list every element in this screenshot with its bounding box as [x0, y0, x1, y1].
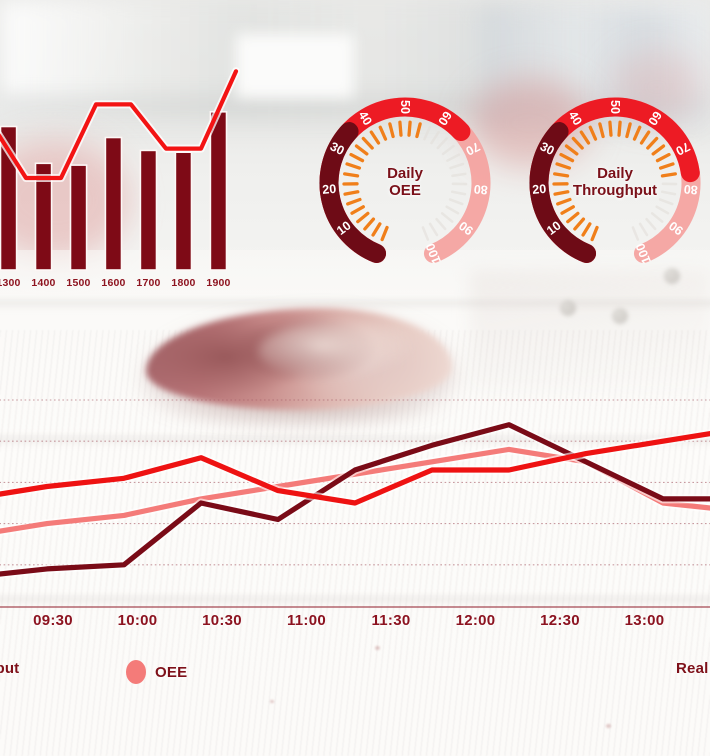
gauge-tick-mark	[567, 146, 577, 154]
gauge-daily-throughput-svg: 102030405060708090100	[520, 88, 710, 278]
gauge-tick-mark	[347, 164, 359, 168]
gauge-tick-mark	[557, 164, 569, 168]
gauge-tick-mark	[661, 164, 673, 168]
combo-bar	[105, 138, 121, 271]
timeline-chart-svg	[0, 392, 710, 612]
timeline-series-oee	[0, 449, 710, 536]
combo-bar-chart[interactable]: 1300140015001600170018001900	[0, 74, 236, 304]
gauge-tick-mark	[573, 138, 582, 148]
meat-fat-marbling	[258, 322, 418, 380]
timeline-x-axis: 09:3010:0010:3011:0011:3012:0012:3013:00…	[0, 612, 710, 638]
gauge-scale-number: 80	[683, 182, 698, 197]
gauge-tick-mark	[438, 138, 447, 148]
combo-x-tick-label: 1500	[66, 277, 90, 289]
gauge-tick-mark	[442, 213, 452, 221]
time-axis-label: 10:30	[202, 612, 242, 629]
gauge-tick-mark	[562, 207, 573, 213]
gauge-daily-throughput[interactable]: 102030405060708090100 Daily Throughput	[520, 88, 710, 278]
gauge-tick-mark	[558, 200, 570, 204]
gauge-tick-mark	[357, 146, 367, 154]
gauge-tick-mark	[371, 132, 378, 143]
dashboard-stage: 1300140015001600170018001900 10203040506…	[0, 0, 710, 756]
legend-item-throughput[interactable]: oughput	[0, 660, 19, 677]
legend-label-throughput: oughput	[0, 660, 19, 677]
gauge-tick-mark	[657, 207, 668, 213]
gauge-tick-mark	[345, 174, 358, 176]
gauge-tick-mark	[358, 213, 368, 221]
gauge-tick-mark	[424, 127, 429, 139]
gauge-tick-mark	[437, 219, 446, 229]
legend-item-realtime[interactable]: Real	[676, 660, 709, 677]
gauge-tick-mark	[447, 207, 458, 213]
gauge-tick-mark	[653, 146, 663, 154]
gauge-tick-mark	[363, 138, 372, 148]
background-speck-1	[375, 646, 380, 650]
gauge-tick-mark	[575, 219, 584, 229]
gauge-tick-mark	[633, 228, 638, 240]
gauge-tick-mark	[409, 122, 410, 135]
gauge-tick-mark	[348, 200, 360, 204]
gauge-tick-mark	[417, 124, 420, 137]
gauge-tick-mark	[400, 122, 401, 135]
gauge-tick-mark	[451, 164, 463, 168]
gauge-tick-mark	[382, 228, 387, 240]
gauge-scale-number: 20	[532, 182, 547, 197]
gauge-tick-mark	[657, 155, 669, 161]
combo-x-tick-label: 1800	[171, 277, 195, 289]
legend-label-oee: OEE	[155, 664, 187, 681]
gauge-tick-mark	[432, 132, 439, 143]
gauge-tick-mark	[660, 200, 672, 204]
time-axis-label: 10:00	[118, 612, 158, 629]
combo-x-tick-label: 1600	[101, 277, 125, 289]
gauge-tick-mark	[443, 146, 453, 154]
gauge-tick-mark	[583, 224, 590, 235]
legend-dot-oee	[126, 660, 146, 684]
legend-item-oee[interactable]: OEE	[126, 660, 187, 684]
gauge-tick-mark	[452, 192, 465, 194]
time-axis-label: 13:00	[625, 612, 665, 629]
time-axis-label: 11:30	[371, 612, 410, 629]
gauge-tick-mark	[581, 132, 588, 143]
gauge-tick-mark	[555, 192, 568, 194]
combo-bar	[140, 150, 156, 270]
gauge-tick-mark	[373, 224, 380, 235]
gauge-tick-mark	[634, 127, 639, 139]
gauge-tick-mark	[423, 228, 428, 240]
timeline-line-chart[interactable]	[0, 392, 710, 612]
gauge-tick-mark	[619, 122, 620, 135]
gauge-tick-mark	[345, 192, 358, 194]
gauge-tick-mark	[627, 124, 630, 137]
timeline-series-halo	[0, 449, 710, 536]
combo-x-tick-label: 1900	[206, 277, 230, 289]
gauge-tick-mark	[555, 174, 568, 176]
gauge-tick-mark	[568, 213, 578, 221]
gauge-tick-mark	[590, 127, 595, 139]
gauge-tick-mark	[600, 124, 603, 137]
gauge-daily-oee-svg: 102030405060708090100	[310, 88, 500, 278]
gauge-tick-mark	[452, 174, 465, 176]
gauge-tick-mark	[610, 122, 611, 135]
time-axis-label: 11:00	[287, 612, 326, 629]
gauge-tick-mark	[430, 224, 437, 235]
background-speck-2	[270, 700, 274, 703]
combo-x-tick-label: 1700	[136, 277, 160, 289]
time-axis-label: 12:30	[540, 612, 580, 629]
background-knob-1	[560, 300, 576, 316]
gauge-tick-mark	[642, 132, 649, 143]
combo-bar	[175, 152, 191, 270]
gauge-tick-mark	[352, 207, 363, 213]
combo-bar	[210, 112, 226, 270]
gauge-tick-mark	[380, 127, 385, 139]
gauge-tick-mark	[662, 174, 675, 176]
gauge-tick-mark	[640, 224, 647, 235]
gauge-scale-number: 50	[608, 100, 622, 114]
gauge-tick-mark	[592, 228, 597, 240]
combo-x-tick-label: 1300	[0, 277, 21, 289]
gauge-scale-number: 20	[322, 182, 337, 197]
gauge-tick-mark	[662, 192, 675, 194]
time-axis-label: 12:00	[456, 612, 496, 629]
gauge-tick-mark	[647, 219, 656, 229]
legend-label-realtime: Real	[676, 660, 709, 677]
gauge-tick-mark	[447, 155, 459, 161]
gauge-daily-oee[interactable]: 102030405060708090100 Daily OEE	[310, 88, 500, 278]
combo-bar	[71, 165, 87, 270]
gauge-tick-mark	[648, 138, 657, 148]
gauge-tick-mark	[561, 155, 573, 161]
background-speck-3	[606, 724, 611, 728]
gauge-tick-mark	[450, 200, 462, 204]
gauge-tick-mark	[390, 124, 393, 137]
background-knob-2	[612, 308, 628, 324]
gauge-scale-number: 80	[473, 182, 488, 197]
gauge-scale-number: 50	[398, 100, 412, 114]
time-axis-label: 09:30	[33, 612, 73, 629]
gauge-tick-mark	[365, 219, 374, 229]
gauge-tick-mark	[351, 155, 363, 161]
combo-x-tick-label: 1400	[31, 277, 55, 289]
combo-chart-svg: 1300140015001600170018001900	[0, 74, 236, 304]
chart-legend: oughput OEE Real	[0, 660, 710, 690]
gauge-tick-mark	[652, 213, 662, 221]
